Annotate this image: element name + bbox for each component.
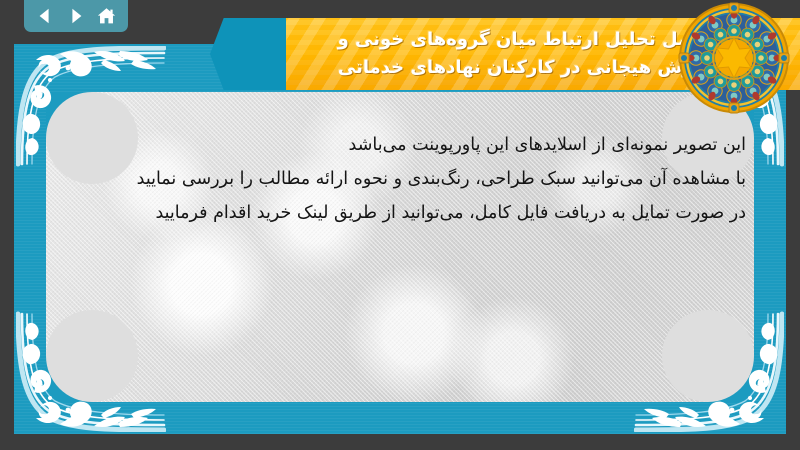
next-arrow-icon[interactable] (63, 4, 89, 28)
navigation-bar[interactable] (24, 0, 128, 32)
banner-arrow-tab (210, 18, 286, 90)
persian-mandala-medallion-icon (678, 2, 790, 114)
title-line-1: کامل تحلیل ارتباط میان گروه‌های خونی و (338, 26, 707, 54)
next-arrow-glyph (67, 7, 85, 25)
previous-arrow-icon[interactable] (32, 4, 58, 28)
previous-arrow-glyph (36, 7, 54, 25)
slide-root: این تصویر نمونه‌ای از اسلایدهای این پاور… (0, 0, 800, 450)
body-line-2: با مشاهده آن می‌توانید سبک طراحی، رنگ‌بن… (60, 162, 746, 196)
home-glyph (97, 7, 116, 25)
home-icon[interactable] (94, 4, 120, 28)
title-line-2: هوش هیجانی در کارکنان نهادهای خدماتی (338, 54, 706, 82)
body-line-1: این تصویر نمونه‌ای از اسلایدهای این پاور… (349, 135, 746, 155)
slide-body-text: این تصویر نمونه‌ای از اسلایدهای این پاور… (60, 128, 746, 230)
body-line-3: در صورت تمایل به دریافت فایل کامل، می‌تو… (60, 196, 746, 230)
